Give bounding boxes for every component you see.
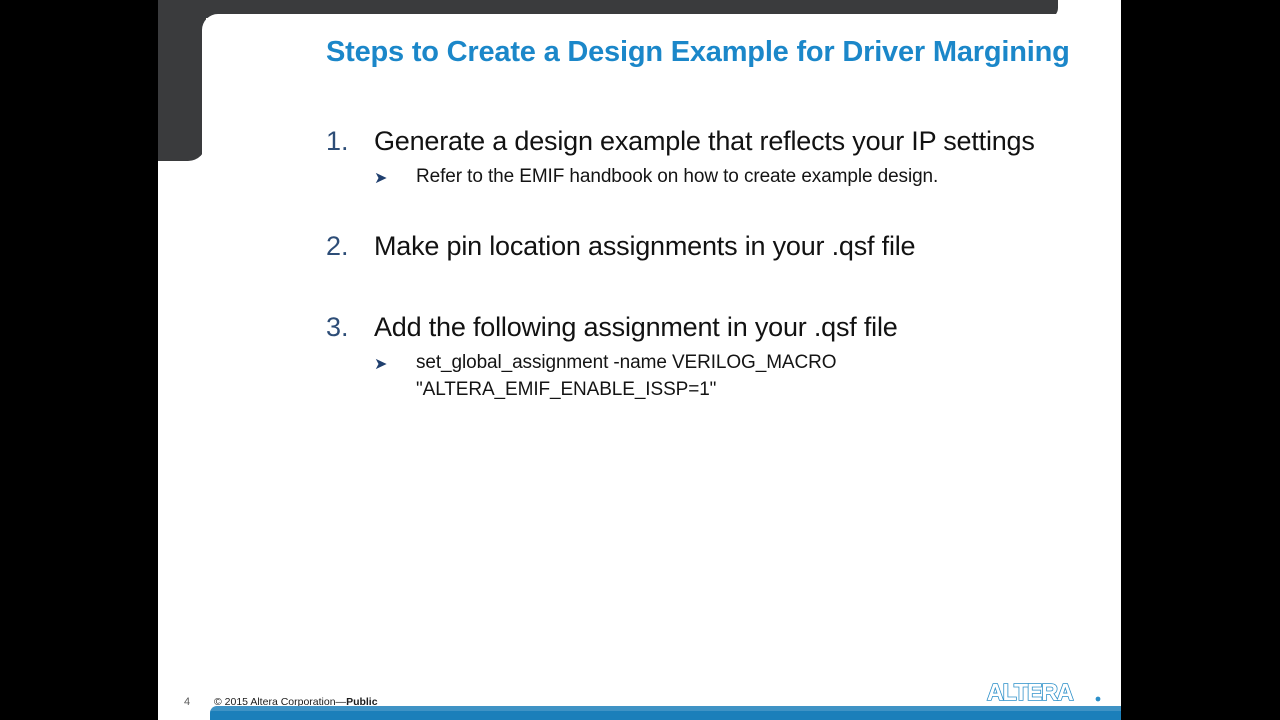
list-item: 2. Make pin location assignments in your… (326, 229, 1121, 265)
presentation-slide: Steps to Create a Design Example for Dri… (158, 0, 1121, 720)
list-item: 1. Generate a design example that reflec… (326, 124, 1121, 160)
list-item-number: 2. (326, 229, 374, 265)
slide-title: Steps to Create a Design Example for Dri… (326, 36, 1121, 69)
blue-bar-sheen (210, 706, 1121, 711)
sub-bullet-text: Refer to the EMIF handbook on how to cre… (416, 164, 938, 191)
slide-page-number: 4 (184, 696, 190, 708)
altera-logo-wordmark: ALTERA (987, 680, 1073, 705)
altera-logo-dot-icon (1096, 697, 1101, 702)
altera-logo: ALTERA (985, 680, 1111, 706)
list-item: 3. Add the following assignment in your … (326, 310, 1121, 346)
list-item-text: Generate a design example that reflects … (374, 124, 1035, 160)
list-item-text: Add the following assignment in your .qs… (374, 310, 898, 346)
slide-body-list: 1. Generate a design example that reflec… (326, 124, 1121, 404)
list-item-text: Make pin location assignments in your .q… (374, 229, 915, 265)
slide-bottom-blue-bar (210, 706, 1121, 720)
list-spacer (326, 191, 1121, 229)
sub-bullet-code-text: set_global_assignment -name VERILOG_MACR… (416, 350, 836, 404)
arrow-bullet-icon: ➤ (374, 164, 416, 191)
list-item-number: 1. (326, 124, 374, 160)
sub-bullet: ➤ set_global_assignment -name VERILOG_MA… (374, 350, 1121, 404)
video-letterbox-stage: Steps to Create a Design Example for Dri… (0, 0, 1280, 720)
list-spacer (326, 264, 1121, 310)
arrow-bullet-icon: ➤ (374, 350, 416, 377)
sub-bullet: ➤ Refer to the EMIF handbook on how to c… (374, 164, 1121, 191)
slide-left-dark-block (158, 0, 206, 161)
list-item-number: 3. (326, 310, 374, 346)
